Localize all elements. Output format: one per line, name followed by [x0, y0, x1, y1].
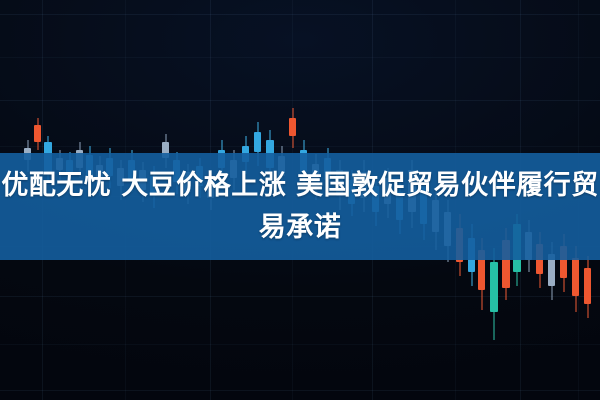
candlestick-body [254, 132, 261, 152]
candlestick-body [289, 118, 296, 136]
candlestick [289, 108, 296, 148]
headline-line-2: 易承诺 [259, 207, 342, 249]
candlestick [584, 256, 591, 318]
headline-line-1: 优配无忧 大豆价格上涨 美国敦促贸易伙伴履行贸 [1, 165, 598, 207]
candlestick-body [584, 268, 591, 304]
candlestick [490, 248, 498, 340]
candlestick-body [34, 125, 41, 142]
candlestick-body [490, 262, 498, 312]
news-banner-image: 优配无忧 大豆价格上涨 美国敦促贸易伙伴履行贸 易承诺 [0, 0, 600, 400]
headline-banner: 优配无忧 大豆价格上涨 美国敦促贸易伙伴履行贸 易承诺 [0, 153, 600, 260]
candlestick-body [572, 258, 579, 296]
candlestick [34, 118, 41, 150]
